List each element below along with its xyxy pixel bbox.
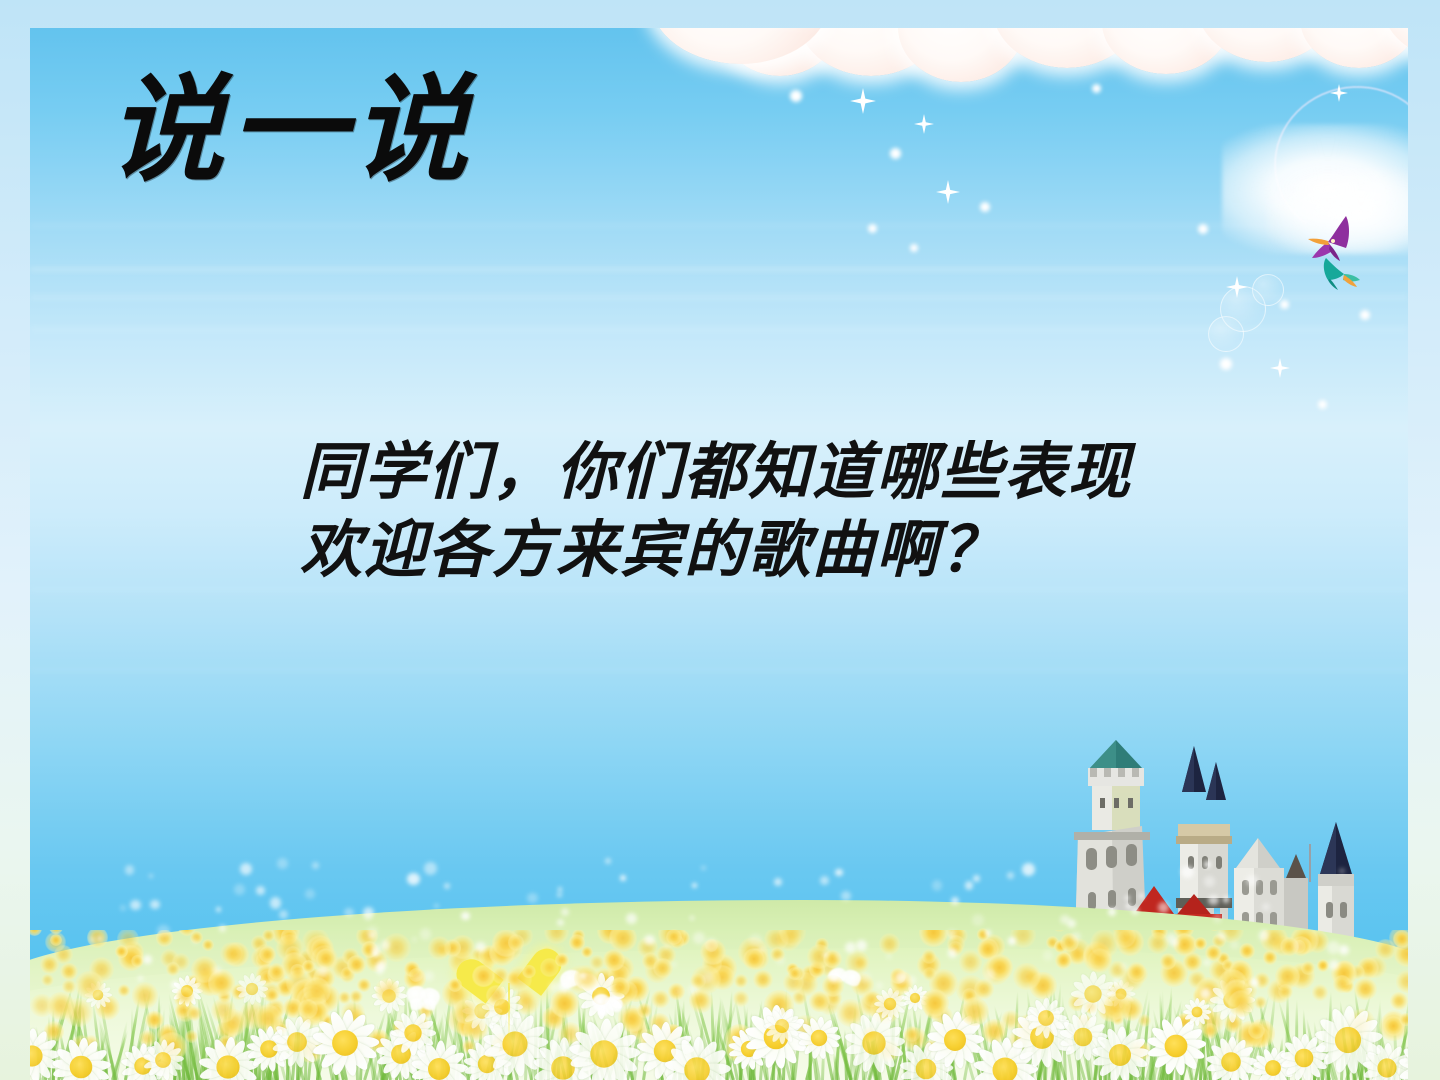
sparkle-dot bbox=[973, 875, 980, 882]
daisy-center bbox=[862, 1031, 885, 1054]
sparkle-dot bbox=[1213, 913, 1223, 923]
yellow-flower bbox=[1396, 970, 1408, 993]
sparkle-dot bbox=[424, 971, 434, 981]
yellow-flower bbox=[555, 953, 569, 967]
yellow-flower bbox=[610, 977, 630, 997]
daisy-center bbox=[1265, 1060, 1281, 1076]
sparkle-dot bbox=[910, 244, 918, 252]
yellow-flower bbox=[1202, 1023, 1218, 1039]
slide: 说一说 同学们，你们都知道哪些表现 欢迎各方来宾的歌曲啊？ bbox=[0, 0, 1440, 1080]
sparkle-dot bbox=[1360, 310, 1370, 320]
sparkle-dot bbox=[1007, 872, 1013, 878]
sparkle-dot bbox=[420, 928, 431, 939]
sparkle-dot bbox=[277, 858, 288, 869]
sparkle-dot bbox=[860, 972, 871, 983]
sparkle-dot bbox=[1008, 937, 1016, 945]
sky-haze-streak bbox=[30, 668, 1408, 671]
yellow-flower bbox=[653, 958, 673, 978]
sparkle-dot bbox=[344, 908, 353, 917]
sparkle-dot bbox=[561, 908, 569, 916]
daisy-center bbox=[428, 1058, 450, 1080]
body-question-text: 同学们，你们都知道哪些表现 欢迎各方来宾的歌曲啊？ bbox=[300, 434, 1200, 590]
yellow-flower bbox=[960, 997, 989, 1026]
yellow-flower bbox=[41, 974, 53, 986]
cloud-puff bbox=[1300, 28, 1408, 68]
sparkle-dot bbox=[1217, 932, 1226, 941]
sparkle-dot bbox=[886, 954, 891, 959]
sparkle-dot bbox=[157, 925, 169, 937]
bubble bbox=[1252, 274, 1284, 306]
daisy-center bbox=[916, 1058, 937, 1079]
sparkle-dot bbox=[948, 948, 957, 957]
sparkle-dot bbox=[1181, 866, 1194, 879]
yellow-flower bbox=[637, 1003, 652, 1018]
sky-haze-streak bbox=[30, 268, 1408, 271]
yellow-flower bbox=[132, 982, 159, 1009]
sparkle-dot bbox=[444, 883, 450, 889]
sparkle-dot bbox=[270, 897, 282, 909]
yellow-flower bbox=[357, 978, 371, 992]
yellow-flower bbox=[1254, 996, 1267, 1009]
yellow-flower bbox=[1333, 975, 1351, 993]
yellow-flower bbox=[75, 971, 103, 999]
daisy-center bbox=[1335, 1027, 1361, 1053]
sparkle-dot bbox=[1092, 84, 1101, 93]
daisy-center bbox=[1295, 1048, 1314, 1067]
yellow-flower bbox=[1127, 962, 1145, 980]
daisy-center bbox=[811, 1030, 827, 1046]
sparkle-dot bbox=[557, 893, 561, 897]
teal-bird-icon bbox=[1316, 250, 1372, 301]
yellow-flower bbox=[919, 930, 948, 947]
yellow-flower bbox=[60, 963, 78, 981]
yellow-flower bbox=[220, 942, 243, 965]
sparkle-dot bbox=[965, 881, 974, 890]
sparkle-dot bbox=[820, 876, 829, 885]
sparkle-dot bbox=[1203, 959, 1211, 967]
sparkle-dot bbox=[549, 982, 558, 991]
daisy-center bbox=[775, 1019, 789, 1033]
yellow-flower bbox=[1393, 930, 1408, 948]
sparkle-dot bbox=[1318, 400, 1327, 409]
sparkle-dot bbox=[1198, 224, 1208, 234]
daisy-center bbox=[155, 1052, 171, 1068]
yellow-flower bbox=[428, 936, 451, 959]
daisy-center bbox=[246, 983, 258, 995]
sparkle-dot bbox=[876, 982, 883, 989]
daisy-center bbox=[684, 1058, 710, 1080]
yellow-flower bbox=[603, 949, 625, 971]
yellow-flower bbox=[1354, 978, 1376, 1000]
yellow-flower bbox=[472, 965, 495, 988]
yellow-flower bbox=[47, 992, 74, 1019]
sparkle-dot bbox=[1113, 978, 1120, 985]
sparkle-dot bbox=[1339, 868, 1345, 874]
sparkle-dot bbox=[693, 932, 705, 944]
sparkle-dot bbox=[749, 934, 761, 946]
yellow-flower bbox=[922, 949, 937, 964]
sparkle-dot bbox=[675, 988, 682, 995]
sparkle-dot bbox=[130, 900, 140, 910]
sparkle-dot bbox=[90, 937, 95, 942]
sparkle-dot bbox=[1125, 896, 1130, 901]
yellow-flower bbox=[1160, 953, 1176, 969]
yellow-flower bbox=[145, 1011, 163, 1029]
yellow-flower bbox=[544, 930, 568, 944]
sparkle-dot bbox=[868, 224, 877, 233]
sparkle-dot bbox=[829, 972, 839, 982]
sparkle-dot bbox=[841, 891, 850, 900]
sparkle-dot bbox=[1022, 863, 1035, 876]
sparkle-dot bbox=[580, 973, 586, 979]
yellow-flower bbox=[1239, 943, 1255, 959]
yellow-flower bbox=[131, 955, 144, 968]
yellow-flower bbox=[1390, 992, 1408, 1010]
sparkle-dot bbox=[381, 940, 390, 949]
daisy-center bbox=[1084, 985, 1101, 1002]
sparkle-dot bbox=[823, 953, 827, 957]
sparkle-dot bbox=[192, 938, 198, 944]
daisy-center bbox=[69, 1056, 92, 1079]
yellow-flower bbox=[166, 962, 179, 975]
yellow-flower bbox=[375, 978, 400, 1003]
yellow-flower bbox=[879, 933, 901, 955]
sky-haze-streak bbox=[30, 328, 1408, 331]
sparkle-dot bbox=[1204, 876, 1215, 887]
yellow-flower bbox=[62, 979, 76, 993]
sparkle-dot bbox=[620, 875, 626, 881]
sparkle-dot bbox=[150, 900, 159, 909]
sparkle-dot bbox=[1280, 300, 1289, 309]
sparkle-dot bbox=[985, 930, 990, 935]
yellow-flower bbox=[923, 967, 936, 980]
yellow-flower bbox=[1052, 930, 1067, 932]
yellow-flower bbox=[268, 963, 284, 979]
yellow-flower bbox=[1013, 963, 1041, 991]
sparkle-dot bbox=[845, 942, 856, 953]
yellow-flower bbox=[666, 929, 681, 944]
yellow-flower bbox=[734, 974, 748, 988]
sparkle-dot bbox=[256, 886, 265, 895]
sparkle-dot bbox=[1230, 941, 1239, 950]
sparkle-dot bbox=[424, 862, 437, 875]
daisy-center bbox=[993, 1057, 1018, 1080]
sparkle-dot bbox=[234, 884, 245, 895]
daisy-center bbox=[883, 998, 895, 1010]
yellow-flower bbox=[453, 999, 478, 1024]
bubble bbox=[1208, 316, 1244, 352]
sparkle-dot bbox=[413, 973, 422, 982]
sparkle-dot bbox=[1220, 358, 1232, 370]
yellow-flower bbox=[185, 1030, 198, 1043]
sparkle-dot bbox=[1259, 930, 1269, 940]
yellow-flower bbox=[1399, 1013, 1408, 1027]
yellow-flower bbox=[44, 1021, 65, 1042]
yellow-flower bbox=[574, 965, 600, 991]
sparkle-dot bbox=[1208, 895, 1218, 905]
sparkle-dot bbox=[980, 202, 990, 212]
yellow-flower bbox=[1317, 959, 1330, 972]
sparkle-dot bbox=[790, 90, 802, 102]
sparkle-dot bbox=[1043, 950, 1054, 961]
yellow-flower bbox=[1055, 952, 1072, 969]
sparkle-dot bbox=[835, 869, 843, 877]
yellow-flower bbox=[118, 984, 131, 997]
sparkle-dot bbox=[985, 969, 996, 980]
sparkle-dot bbox=[143, 955, 152, 964]
yellow-flower bbox=[904, 1026, 920, 1042]
yellow-flower bbox=[733, 990, 749, 1006]
sparkle-dot bbox=[701, 866, 705, 870]
sparkle-dot bbox=[1131, 907, 1139, 915]
sparkle-dot bbox=[1329, 960, 1339, 970]
sparkle-dot bbox=[932, 880, 943, 891]
body-line-2: 欢迎各方来宾的歌曲啊？ bbox=[300, 512, 1200, 590]
sparkle-dot bbox=[368, 932, 375, 939]
yellow-flower bbox=[1312, 984, 1328, 1000]
page-title: 说一说 bbox=[108, 72, 474, 194]
sparkle-dot bbox=[318, 966, 329, 977]
cloud-bank bbox=[730, 28, 1408, 92]
daisy-center bbox=[1377, 1059, 1396, 1078]
sparkle-dot bbox=[907, 976, 916, 985]
daisy-center bbox=[1164, 1035, 1187, 1058]
sparkle-dot bbox=[1139, 893, 1144, 898]
sparkle-dot bbox=[97, 936, 102, 941]
yellow-flower bbox=[569, 934, 586, 951]
body-line-1: 同学们，你们都知道哪些表现 bbox=[300, 434, 1200, 512]
sparkle-dot bbox=[216, 907, 221, 912]
yellow-flower bbox=[259, 946, 276, 963]
sparkle-dot bbox=[1223, 896, 1229, 902]
sparkle-dot bbox=[890, 148, 901, 159]
sparkle-dot bbox=[412, 937, 417, 942]
daisy-center bbox=[287, 1032, 307, 1052]
daisy-center bbox=[332, 1030, 358, 1056]
yellow-flower bbox=[753, 970, 772, 989]
daisy-center bbox=[1221, 1052, 1241, 1072]
sparkle-dot bbox=[895, 972, 906, 983]
sparkle-dot bbox=[1327, 941, 1340, 954]
yellow-flower bbox=[50, 934, 62, 946]
sparkle-dot bbox=[219, 925, 226, 932]
sparkle-dot bbox=[705, 938, 718, 951]
sparkle-dot bbox=[120, 905, 126, 911]
sparkle-dot bbox=[527, 893, 537, 903]
yellow-flower bbox=[651, 990, 669, 1008]
yellow-flower bbox=[176, 987, 194, 1005]
yellow-flower bbox=[1301, 961, 1315, 975]
yellow-flower bbox=[30, 930, 42, 936]
daisy-center bbox=[404, 1024, 421, 1041]
daisy-center bbox=[1038, 1010, 1054, 1026]
yellow-flower bbox=[508, 934, 524, 950]
sparkle-dot bbox=[305, 889, 314, 898]
daisy-center bbox=[216, 1055, 239, 1078]
sparkle-dot bbox=[212, 966, 221, 975]
daisy-center bbox=[551, 1056, 575, 1080]
sparkle-dot bbox=[1126, 903, 1131, 908]
sparkle-dot bbox=[644, 935, 655, 946]
sky-haze-streak bbox=[30, 296, 1408, 299]
yellow-flower bbox=[486, 985, 507, 1006]
yellow-flower bbox=[1104, 993, 1131, 1020]
